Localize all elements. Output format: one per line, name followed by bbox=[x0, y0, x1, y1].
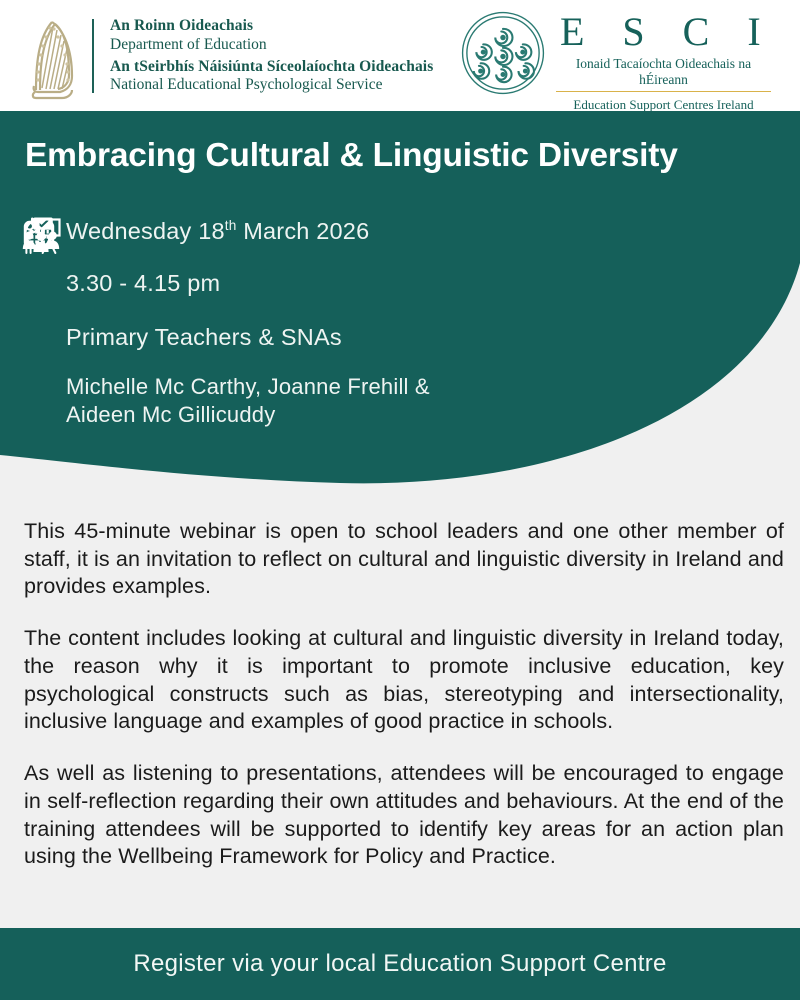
detail-row-time: 3.30 - 4.15 pm bbox=[22, 268, 622, 308]
logo-header-band: An Roinn Oideachais Department of Educat… bbox=[0, 0, 800, 111]
paragraph-1: This 45-minute webinar is open to school… bbox=[24, 518, 784, 601]
dept-line-english-1: Department of Education bbox=[110, 36, 433, 55]
event-details-list: Wednesday 18th March 2026 3.30 - 4.15 pm bbox=[22, 216, 622, 439]
detail-row-presenters: Michelle Mc Carthy, Joanne Frehill &Aide… bbox=[22, 372, 622, 429]
esci-name-english: Education Support Centres Ireland bbox=[556, 92, 771, 113]
irish-harp-emblem-icon bbox=[22, 10, 86, 102]
audience-group-icon bbox=[22, 322, 66, 364]
page-title: Embracing Cultural & Linguistic Diversit… bbox=[25, 137, 785, 175]
event-audience: Primary Teachers & SNAs bbox=[66, 322, 342, 353]
esci-name-irish: Ionaid Tacaíochta Oideachais na hÉireann bbox=[556, 52, 771, 92]
esci-spiral-circle-logo-icon bbox=[460, 10, 546, 96]
dept-line-irish-2: An tSeirbhís Náisiúnta Síceolaíochta Oid… bbox=[110, 58, 433, 77]
footer-band: Register via your local Education Suppor… bbox=[0, 928, 800, 1000]
hero-section: Embracing Cultural & Linguistic Diversit… bbox=[0, 111, 800, 491]
logo-divider bbox=[92, 19, 94, 93]
paragraph-3: As well as listening to presentations, a… bbox=[24, 760, 784, 871]
esci-logo: E S C I Ionaid Tacaíochta Oideachais na … bbox=[460, 8, 790, 104]
dept-line-irish-1: An Roinn Oideachais bbox=[110, 17, 433, 36]
department-of-education-logo: An Roinn Oideachais Department of Educat… bbox=[22, 8, 442, 104]
dept-line-english-2: National Educational Psychological Servi… bbox=[110, 76, 433, 95]
department-wordmark: An Roinn Oideachais Department of Educat… bbox=[110, 17, 433, 96]
webinar-poster: An Roinn Oideachais Department of Educat… bbox=[0, 0, 800, 1000]
detail-row-audience: Primary Teachers & SNAs bbox=[22, 322, 622, 364]
event-date: Wednesday 18th March 2026 bbox=[66, 216, 369, 247]
esci-acronym: E S C I bbox=[556, 12, 775, 52]
event-time: 3.30 - 4.15 pm bbox=[66, 268, 220, 299]
detail-row-date: Wednesday 18th March 2026 bbox=[22, 216, 622, 256]
paragraph-2: The content includes looking at cultural… bbox=[24, 625, 784, 736]
clock-icon bbox=[22, 268, 66, 308]
register-call-to-action: Register via your local Education Suppor… bbox=[133, 950, 666, 978]
description-body: This 45-minute webinar is open to school… bbox=[24, 518, 784, 871]
event-presenters: Michelle Mc Carthy, Joanne Frehill &Aide… bbox=[66, 372, 430, 429]
presenter-whiteboard-icon bbox=[22, 372, 66, 418]
